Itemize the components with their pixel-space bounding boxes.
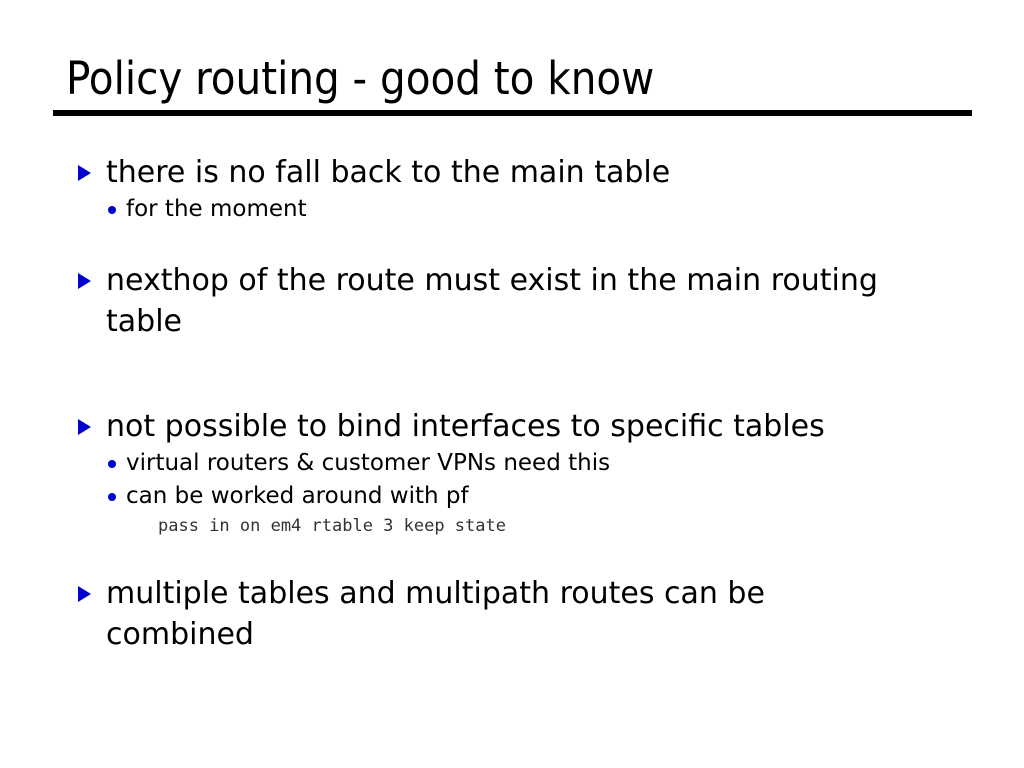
slide-body: there is no fall back to the main table … (70, 152, 970, 655)
bullet-item-2-label: nexthop of the route must exist in the m… (106, 260, 896, 342)
sub-bullet-item-3-2-label: can be worked around with pf (126, 483, 469, 509)
dot-bullet-icon (108, 493, 116, 501)
triangle-bullet-icon (78, 165, 91, 181)
sub-bullet-item-3-1: virtual routers & customer VPNs need thi… (70, 447, 970, 480)
slide-title-block: Policy routing - good to know (53, 52, 972, 106)
bullet-item-4-label: multiple tables and multipath routes can… (106, 573, 896, 655)
spacer (70, 226, 970, 260)
dot-bullet-icon (108, 460, 116, 468)
triangle-bullet-icon (78, 419, 91, 435)
bullet-item-3-label: not possible to bind interfaces to speci… (106, 406, 896, 447)
page-title: Policy routing - good to know (53, 52, 972, 106)
dot-bullet-icon (108, 206, 116, 214)
code-snippet: pass in on em4 rtable 3 keep state (70, 513, 970, 539)
bullet-item-3: not possible to bind interfaces to speci… (70, 406, 970, 447)
slide-canvas: Policy routing - good to know there is n… (0, 0, 1024, 768)
spacer (70, 539, 970, 573)
spacer (70, 342, 970, 376)
title-divider (53, 110, 972, 116)
spacer (70, 376, 970, 406)
bullet-item-4: multiple tables and multipath routes can… (70, 573, 970, 655)
sub-bullet-item-1-1: for the moment (70, 193, 970, 226)
bullet-item-1: there is no fall back to the main table (70, 152, 970, 193)
triangle-bullet-icon (78, 586, 91, 602)
bullet-item-2: nexthop of the route must exist in the m… (70, 260, 970, 342)
triangle-bullet-icon (78, 273, 91, 289)
sub-bullet-item-3-1-label: virtual routers & customer VPNs need thi… (126, 450, 610, 476)
sub-bullet-item-1-1-label: for the moment (126, 196, 307, 222)
sub-bullet-item-3-2: can be worked around with pf (70, 480, 970, 513)
bullet-item-1-label: there is no fall back to the main table (106, 152, 896, 193)
